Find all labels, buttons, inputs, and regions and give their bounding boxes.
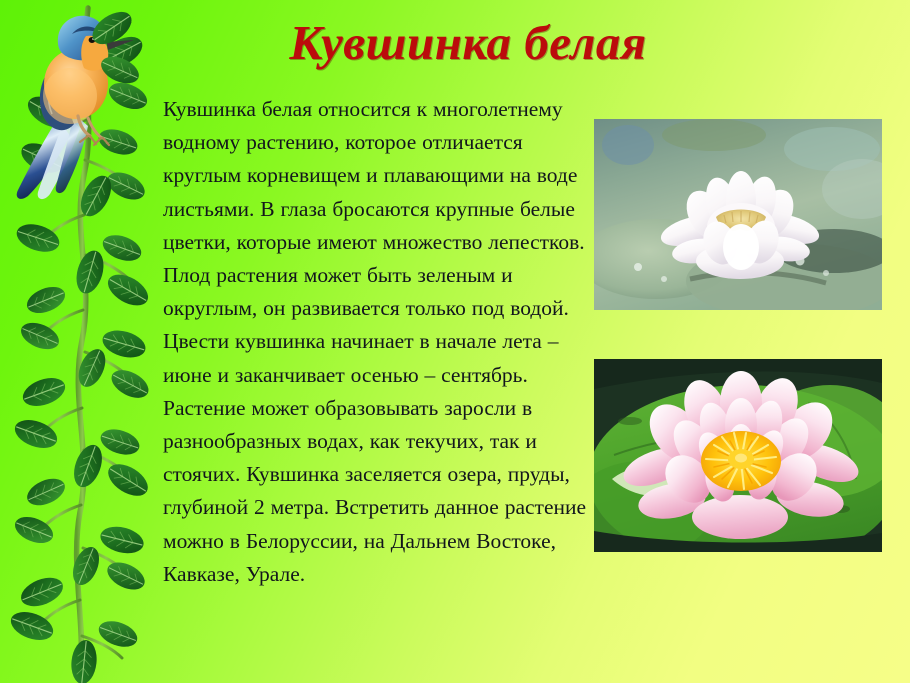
- page-title: Кувшинка белая: [168, 18, 768, 69]
- body-paragraph: Кувшинка белая относится к многолетнему …: [163, 93, 588, 591]
- white-water-lily-photo: [594, 119, 882, 310]
- slide-canvas: Кувшинка белая Кувшинка белая относится …: [0, 0, 910, 683]
- leafy-vine-illustration: [0, 0, 170, 683]
- singing-bird-illustration: [17, 16, 134, 199]
- pink-water-lily-photo: [594, 359, 882, 552]
